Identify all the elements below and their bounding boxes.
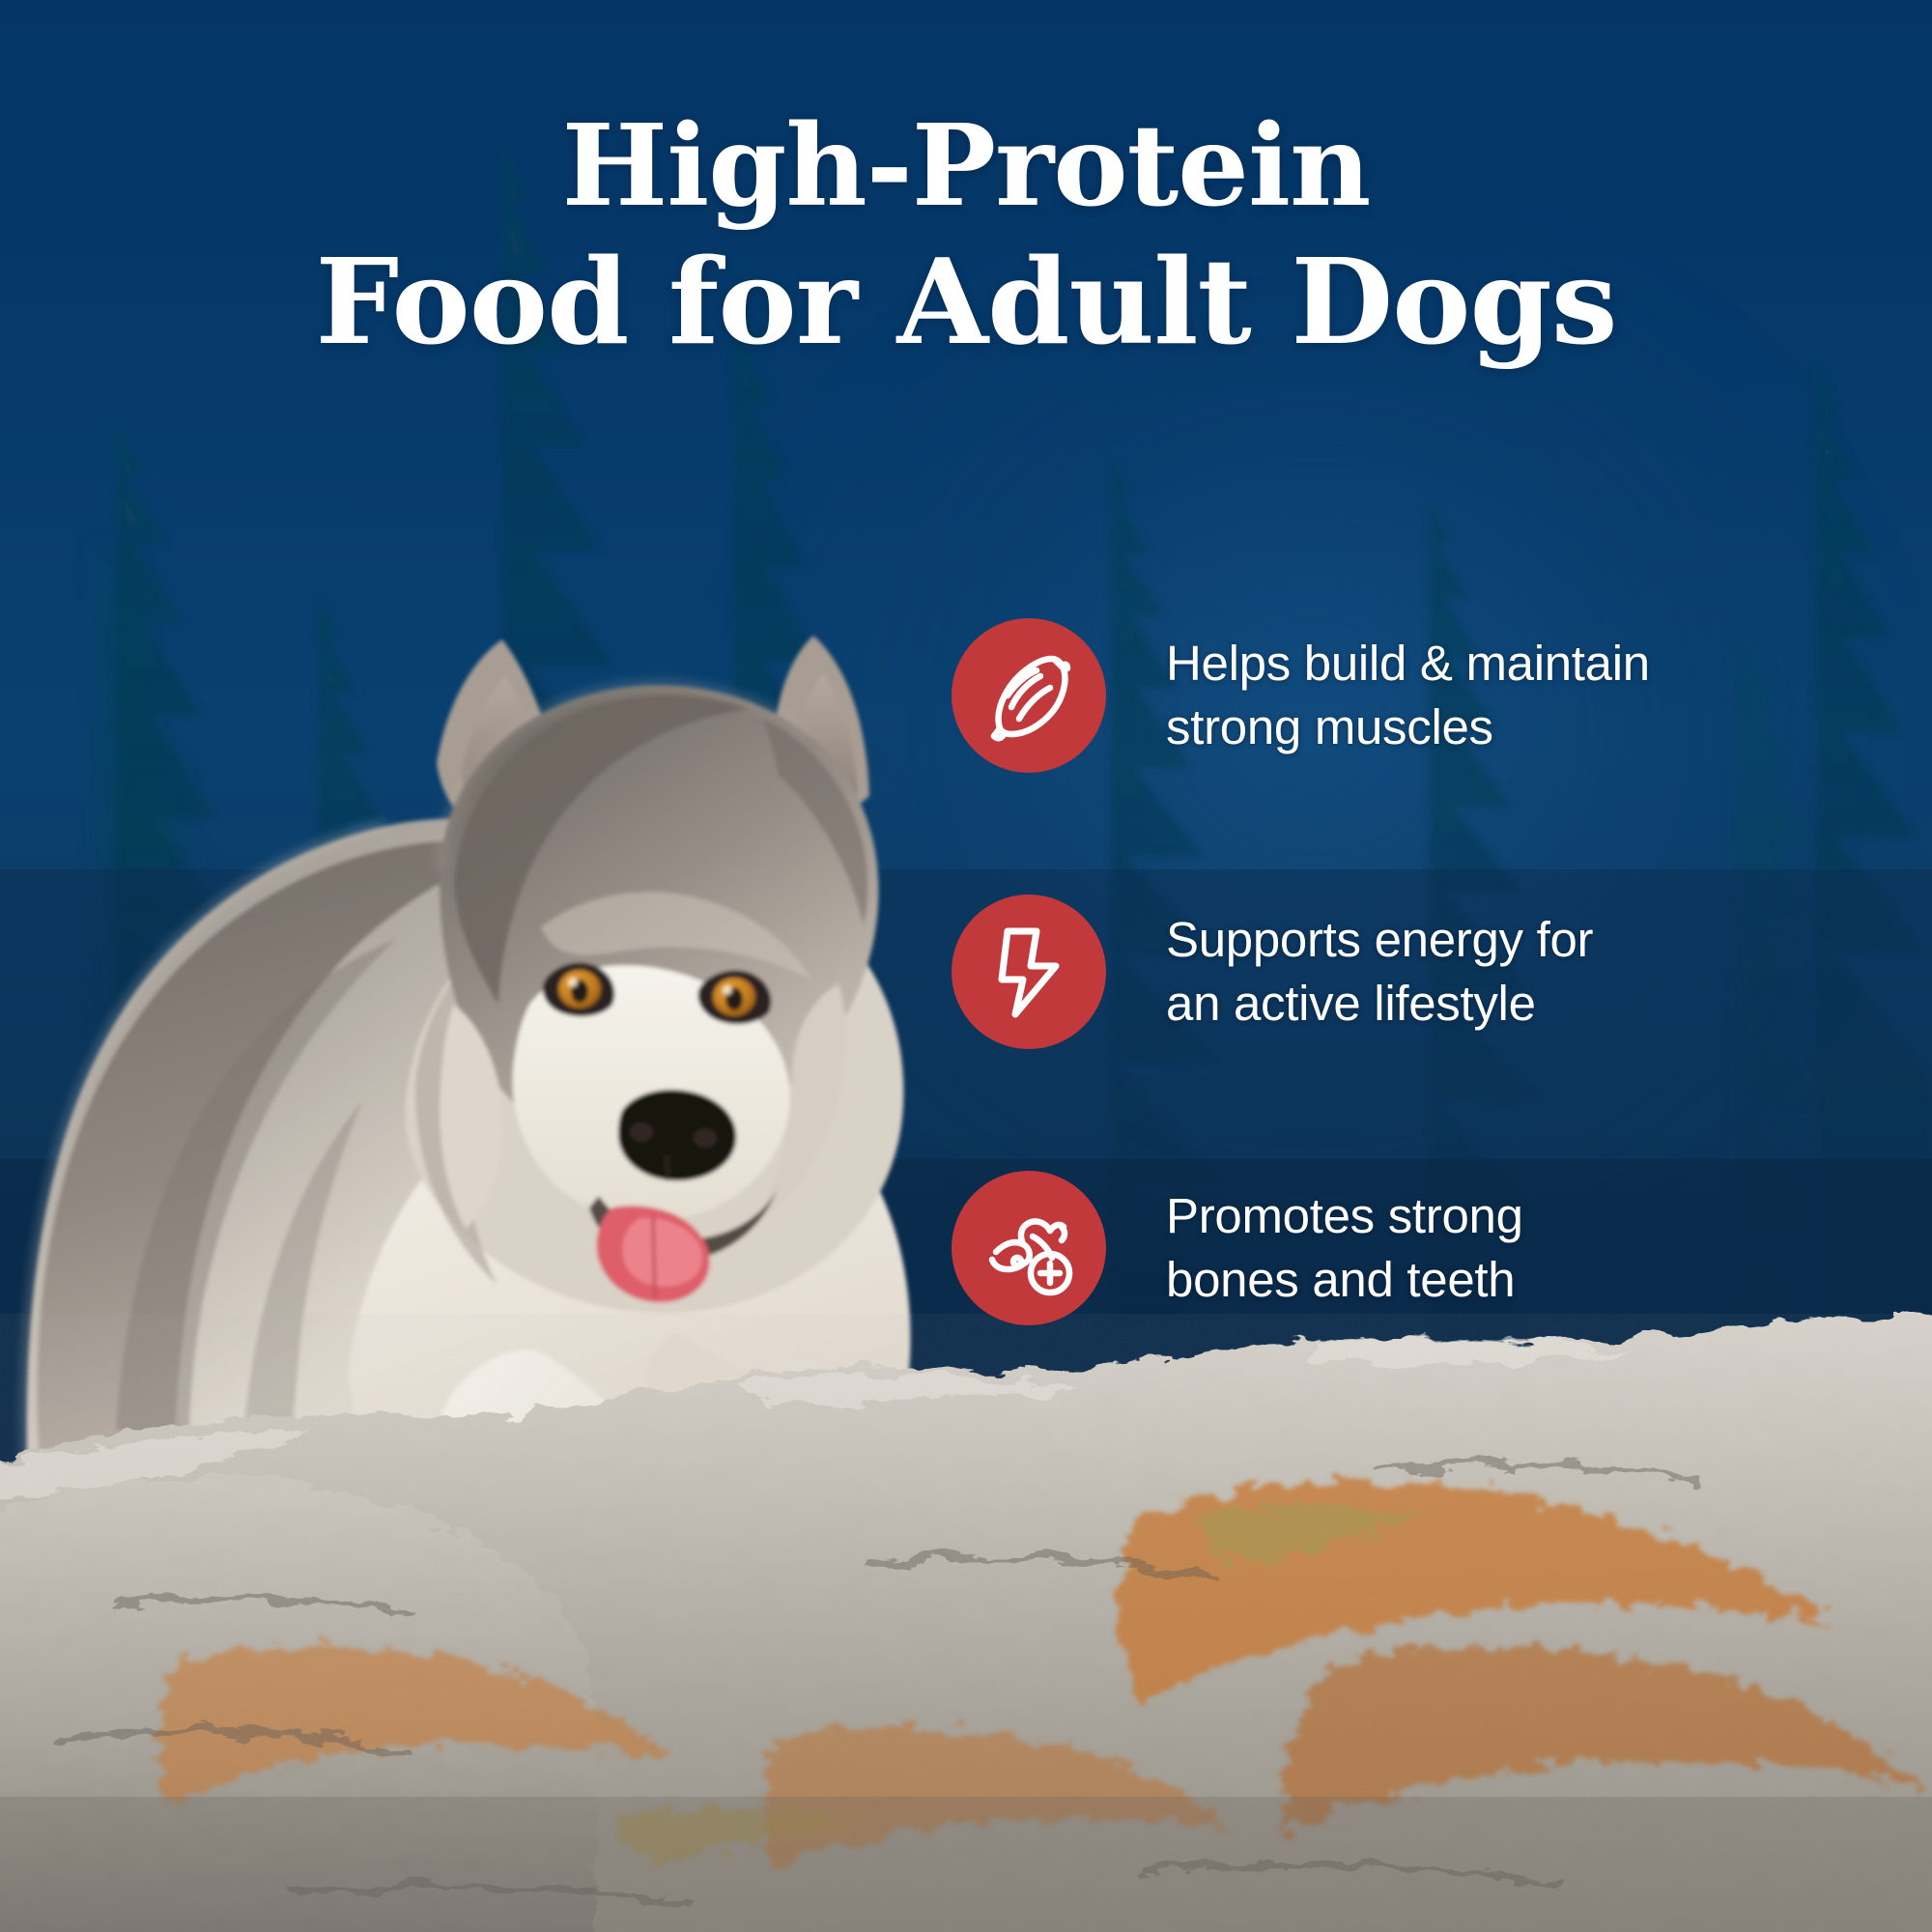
- benefit-badge-2: [952, 895, 1106, 1049]
- benefit-item-energy: Supports energy for an active lifestyle: [952, 895, 1879, 1049]
- benefit-badge-3: [952, 1171, 1106, 1325]
- page-title: High-Protein Food for Adult Dogs: [0, 101, 1932, 370]
- headline-line-1: High-Protein: [116, 101, 1816, 233]
- benefit-line-2b: an active lifestyle: [1166, 976, 1536, 1031]
- muscle-icon: [979, 645, 1079, 746]
- benefit-line-3b: bones and teeth: [1166, 1252, 1515, 1307]
- benefit-item-muscles: Helps build & maintain strong muscles: [952, 618, 1879, 773]
- benefit-text-2: Supports energy for an active lifestyle: [1166, 908, 1593, 1037]
- benefit-item-bones: Promotes strong bones and teeth: [952, 1171, 1879, 1325]
- bone-joint-plus-icon: [979, 1198, 1079, 1298]
- benefit-line-2a: Supports energy for: [1166, 912, 1593, 967]
- benefit-text-1: Helps build & maintain strong muscles: [1166, 632, 1650, 760]
- benefit-text-3: Promotes strong bones and teeth: [1166, 1184, 1523, 1313]
- benefit-badge-1: [952, 618, 1106, 773]
- benefit-line-3a: Promotes strong: [1166, 1188, 1523, 1243]
- benefits-list: Helps build & maintain strong muscles Su…: [952, 618, 1879, 1325]
- lightning-bolt-icon: [979, 922, 1079, 1022]
- benefit-line-1b: strong muscles: [1166, 699, 1493, 754]
- marketing-banner: High-Protein Food for Adult Dogs: [0, 0, 1932, 1932]
- headline-line-2: Food for Adult Dogs: [116, 233, 1816, 371]
- benefit-line-1a: Helps build & maintain: [1166, 636, 1650, 691]
